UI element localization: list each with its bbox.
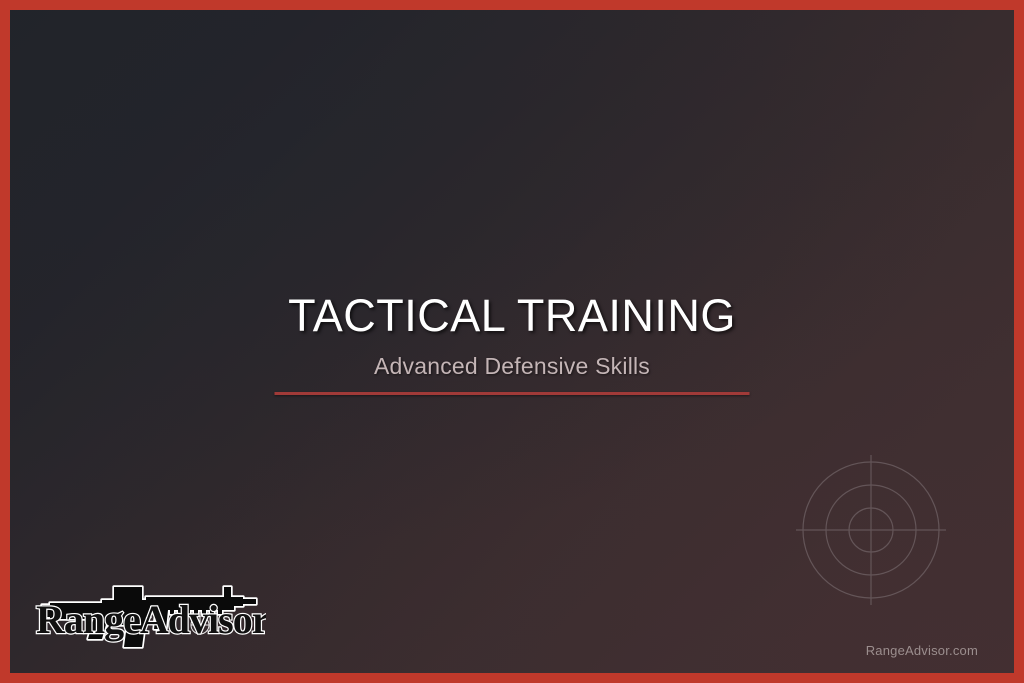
accent-divider — [275, 392, 750, 395]
crosshair-target-icon — [796, 455, 946, 605]
logo-wordmark: RangeAdvisor — [36, 597, 266, 642]
page-subtitle: Advanced Defensive Skills — [10, 353, 1014, 380]
slide-canvas: TACTICAL TRAINING Advanced Defensive Ski… — [10, 10, 1014, 673]
presentation-slide: TACTICAL TRAINING Advanced Defensive Ski… — [0, 0, 1024, 683]
footer-url: RangeAdvisor.com — [866, 643, 978, 658]
title-block: TACTICAL TRAINING Advanced Defensive Ski… — [10, 292, 1014, 380]
page-title: TACTICAL TRAINING — [10, 292, 1014, 339]
rifle-silhouette-icon: RangeAdvisor — [28, 573, 266, 661]
